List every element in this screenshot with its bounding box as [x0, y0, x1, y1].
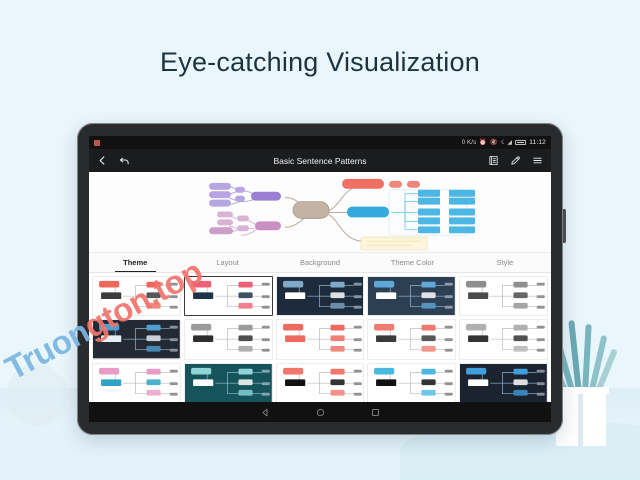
nav-back-triangle-icon[interactable] [261, 408, 270, 417]
title-bar-left-actions [97, 155, 130, 166]
nav-home-circle-icon[interactable] [316, 408, 325, 417]
theme-thumbnail[interactable] [92, 276, 181, 316]
undo-icon[interactable] [119, 155, 130, 166]
page-title: Eye-catching Visualization [0, 47, 640, 78]
editor-tab-bar: Theme Layout Background Theme Color Styl… [89, 253, 551, 273]
tab-background[interactable]: Background [274, 253, 366, 272]
theme-thumbnail[interactable] [459, 319, 548, 359]
tab-theme-color[interactable]: Theme Color [366, 253, 458, 272]
network-speed-label: 0 K/s [462, 140, 477, 146]
tab-style[interactable]: Style [459, 253, 551, 272]
android-nav-bar [89, 402, 551, 422]
nav-recents-square-icon[interactable] [371, 408, 380, 417]
status-bar-left [94, 140, 100, 146]
tab-background-label: Background [300, 258, 340, 267]
theme-thumbnail[interactable] [276, 319, 365, 359]
tab-style-label: Style [496, 258, 513, 267]
mute-icon: 🔇 [490, 140, 498, 146]
theme-thumbnail[interactable] [276, 363, 365, 403]
clock-label: 11:12 [529, 139, 546, 146]
theme-thumbnail[interactable] [459, 363, 548, 403]
theme-thumbnail[interactable] [367, 319, 456, 359]
theme-thumbnail[interactable] [92, 363, 181, 403]
alarm-icon: ⏰ [479, 140, 487, 146]
pen-style-icon[interactable] [510, 155, 521, 166]
mindmap-canvas[interactable] [89, 172, 551, 253]
document-title: Basic Sentence Patterns [89, 156, 551, 166]
tab-theme-label: Theme [123, 258, 147, 267]
tab-layout[interactable]: Layout [181, 253, 273, 272]
theme-thumbnail[interactable] [184, 319, 273, 359]
app-notification-icon [94, 140, 100, 146]
status-bar-right: 0 K/s ⏰ 🔇 ☇ ◢ 11:12 [462, 139, 546, 146]
theme-thumbnail-grid[interactable] [89, 273, 551, 403]
plant-pot-seam [578, 390, 583, 446]
android-status-bar: 0 K/s ⏰ 🔇 ☇ ◢ 11:12 [89, 136, 551, 149]
battery-icon [515, 140, 526, 145]
menu-icon[interactable] [532, 155, 543, 166]
theme-thumbnail[interactable] [459, 276, 548, 316]
tab-theme[interactable]: Theme [89, 253, 181, 272]
app-title-bar: Basic Sentence Patterns [89, 149, 551, 172]
tab-theme-color-label: Theme Color [391, 258, 434, 267]
tablet-screen: 0 K/s ⏰ 🔇 ☇ ◢ 11:12 [89, 136, 551, 422]
theme-thumbnail[interactable] [92, 319, 181, 359]
theme-thumbnail[interactable] [367, 363, 456, 403]
tablet-device: 0 K/s ⏰ 🔇 ☇ ◢ 11:12 [77, 123, 563, 435]
outline-view-icon[interactable] [488, 155, 499, 166]
title-bar-right-actions [488, 155, 543, 166]
theme-thumbnail[interactable] [184, 276, 273, 316]
mindmap-graphic [89, 172, 551, 252]
page-root: Eye-catching Visualization 0 K/s ⏰ 🔇 [0, 0, 640, 480]
background-circle [6, 364, 68, 426]
tab-layout-label: Layout [216, 258, 239, 267]
theme-thumbnail[interactable] [184, 363, 273, 403]
theme-thumbnail[interactable] [276, 276, 365, 316]
bluetooth-icon: ☇ [501, 140, 505, 146]
theme-thumbnail[interactable] [367, 276, 456, 316]
back-chevron-icon[interactable] [97, 155, 108, 166]
wifi-icon: ◢ [507, 140, 512, 146]
